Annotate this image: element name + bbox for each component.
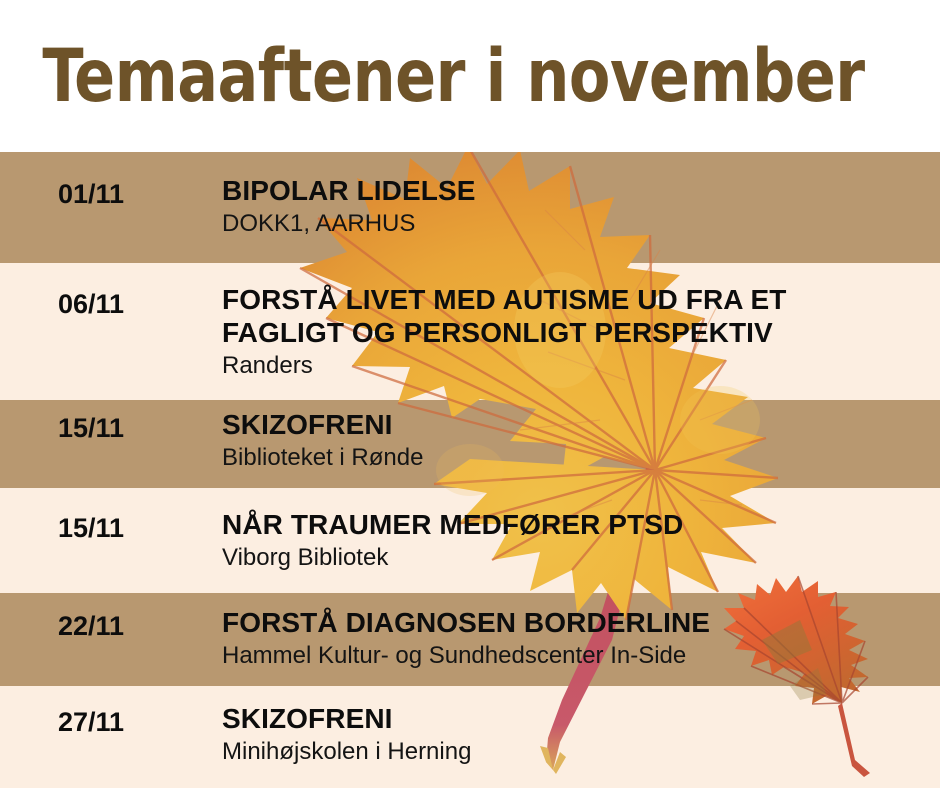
- list-item: 06/11 FORSTÅ LIVET MED AUTISME UD FRA ET…: [0, 263, 940, 400]
- event-text-block: FORSTÅ DIAGNOSEN BORDERLINE Hammel Kultu…: [222, 606, 930, 671]
- event-date: 01/11: [58, 179, 124, 210]
- event-venue: Minihøjskolen i Herning: [222, 738, 930, 767]
- event-venue: Viborg Bibliotek: [222, 544, 930, 573]
- event-date: 27/11: [58, 707, 124, 738]
- event-text-block: SKIZOFRENI Biblioteket i Rønde: [222, 408, 930, 473]
- event-title: SKIZOFRENI: [222, 408, 930, 441]
- event-title: BIPOLAR LIDELSE: [222, 174, 930, 207]
- event-title: FORSTÅ DIAGNOSEN BORDERLINE: [222, 606, 930, 639]
- event-date: 06/11: [58, 289, 124, 320]
- event-venue: Hammel Kultur- og Sundhedscenter In-Side: [222, 642, 930, 671]
- event-text-block: SKIZOFRENI Minihøjskolen i Herning: [222, 702, 930, 767]
- list-item: 15/11 NÅR TRAUMER MEDFØRER PTSD Viborg B…: [0, 488, 940, 593]
- event-title: SKIZOFRENI: [222, 702, 930, 735]
- event-text-block: BIPOLAR LIDELSE DOKK1, AARHUS: [222, 174, 930, 239]
- list-item: 27/11 SKIZOFRENI Minihøjskolen i Herning: [0, 686, 940, 788]
- event-title: FORSTÅ LIVET MED AUTISME UD FRA ET FAGLI…: [222, 283, 930, 349]
- poster-canvas: Temaaftener i november 01/11 BIPOLAR LID…: [0, 0, 940, 788]
- event-date: 22/11: [58, 611, 124, 642]
- event-date: 15/11: [58, 513, 124, 544]
- title-area: Temaaftener i november: [0, 0, 940, 152]
- list-item: 15/11 SKIZOFRENI Biblioteket i Rønde: [0, 400, 940, 488]
- event-title: NÅR TRAUMER MEDFØRER PTSD: [222, 508, 930, 541]
- event-date: 15/11: [58, 413, 124, 444]
- event-text-block: NÅR TRAUMER MEDFØRER PTSD Viborg Bibliot…: [222, 508, 930, 573]
- list-item: 22/11 FORSTÅ DIAGNOSEN BORDERLINE Hammel…: [0, 593, 940, 686]
- page-title: Temaaftener i november: [0, 40, 865, 113]
- event-venue: Randers: [222, 352, 930, 381]
- list-item: 01/11 BIPOLAR LIDELSE DOKK1, AARHUS: [0, 152, 940, 263]
- event-venue: Biblioteket i Rønde: [222, 444, 930, 473]
- event-venue: DOKK1, AARHUS: [222, 210, 930, 239]
- event-text-block: FORSTÅ LIVET MED AUTISME UD FRA ET FAGLI…: [222, 283, 930, 381]
